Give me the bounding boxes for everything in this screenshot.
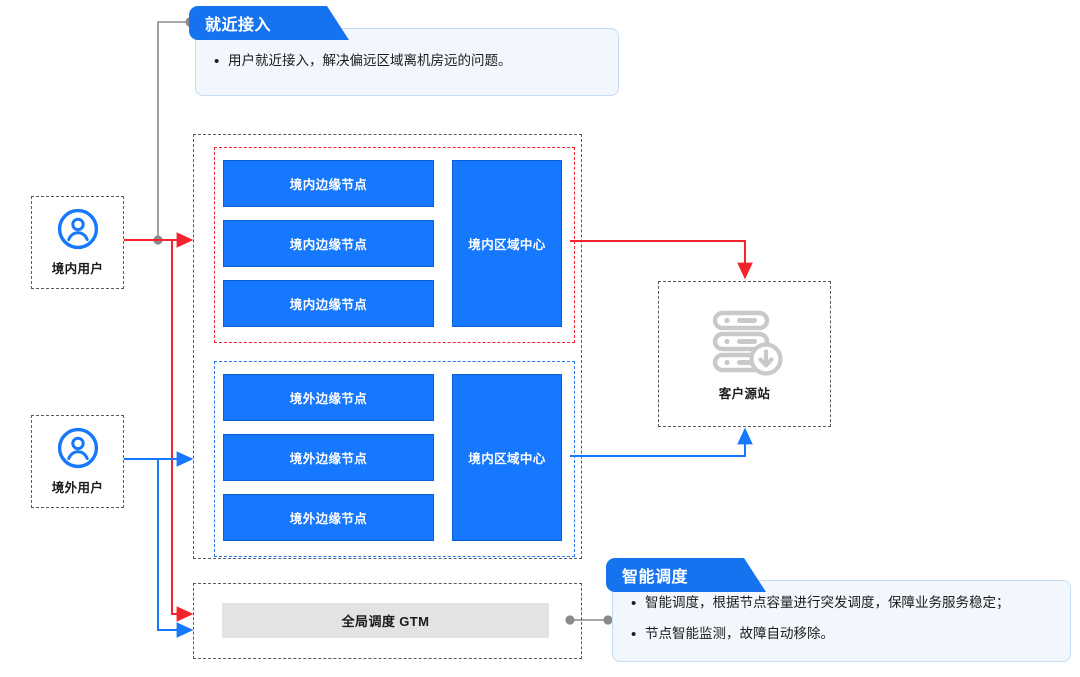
flow-overseas-user-to-gtm [158,459,191,630]
overseas-edge-node-1-label: 境外边缘节点 [290,388,367,407]
callout-nearby-access-tab: 就近接入 [189,6,349,40]
overseas-edge-node-3-label: 境外边缘节点 [290,508,367,527]
flow-overseas-center-to-origin [570,430,745,456]
server-download-icon [704,307,786,377]
domestic-edge-node-3-label: 境内边缘节点 [290,294,367,313]
callout-smart-scheduling-bullet-1: 节点智能监测，故障自动移除。 [645,624,834,644]
user-circle-icon [57,208,99,250]
overseas-regional-center-label: 境内区域中心 [468,448,545,467]
flow-domestic-user-to-gtm [172,240,191,614]
bullet-icon: • [214,51,228,73]
gtm-bar[interactable]: 全局调度 GTM [222,603,549,638]
domestic-user-card[interactable]: 境内用户 [31,196,124,289]
flow-domestic-center-to-origin [570,241,745,277]
domestic-regional-center-label: 境内区域中心 [468,234,545,253]
callout-nearby-access-bullet-0: 用户就近接入，解决偏远区域离机房远的问题。 [228,51,512,71]
callout-smart-scheduling-tab: 智能调度 [606,558,766,592]
bullet-icon: • [631,624,645,646]
user-circle-icon [57,427,99,469]
diagram-canvas: • 用户就近接入，解决偏远区域离机房远的问题。 就近接入 境内边缘节点 境内边缘… [0,0,1080,677]
callout-smart-scheduling: • 智能调度，根据节点容量进行突发调度，保障业务服务稳定； • 节点智能监测，故… [612,580,1071,662]
domestic-user-label: 境内用户 [52,258,104,277]
domestic-edge-node-2[interactable]: 境内边缘节点 [223,220,434,267]
overseas-edge-node-1[interactable]: 境外边缘节点 [223,374,434,421]
domestic-edge-node-1[interactable]: 境内边缘节点 [223,160,434,207]
domestic-edge-node-3[interactable]: 境内边缘节点 [223,280,434,327]
gtm-label: 全局调度 GTM [342,611,430,630]
domestic-edge-node-2-label: 境内边缘节点 [290,234,367,253]
connector-nearby-access [153,17,194,244]
overseas-edge-node-2-label: 境外边缘节点 [290,448,367,467]
bullet-icon: • [631,593,645,615]
callout-nearby-access-title: 就近接入 [205,11,271,35]
origin-server-card[interactable]: 客户源站 [658,281,831,427]
callout-smart-scheduling-title: 智能调度 [622,563,688,587]
overseas-user-card[interactable]: 境外用户 [31,415,124,508]
overseas-edge-node-2[interactable]: 境外边缘节点 [223,434,434,481]
callout-smart-scheduling-bullet-0: 智能调度，根据节点容量进行突发调度，保障业务服务稳定； [645,593,1010,613]
overseas-user-label: 境外用户 [52,477,104,496]
domestic-edge-node-1-label: 境内边缘节点 [290,174,367,193]
overseas-edge-node-3[interactable]: 境外边缘节点 [223,494,434,541]
origin-server-label: 客户源站 [719,383,771,402]
overseas-regional-center[interactable]: 境内区域中心 [452,374,562,541]
domestic-regional-center[interactable]: 境内区域中心 [452,160,562,327]
